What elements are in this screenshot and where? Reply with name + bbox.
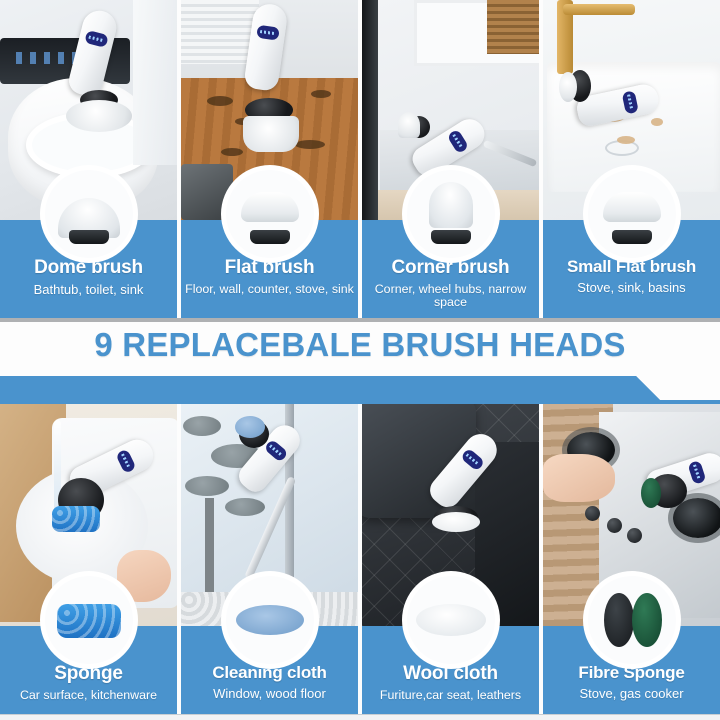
inset-dome-brush-head <box>45 170 133 258</box>
stove-knob <box>585 506 600 521</box>
dirt-spot <box>207 96 233 106</box>
stove-knob <box>627 528 642 543</box>
wand-led-indicator <box>447 129 470 155</box>
inset-small-flat-brush-head <box>588 170 676 258</box>
brush-title: Fibre Sponge <box>547 664 716 683</box>
inset-fibre-sponge-head <box>588 576 676 664</box>
inset-sponge-head <box>45 576 133 664</box>
blue-honeycomb-sponge-icon <box>57 604 121 638</box>
bottom-frame-line <box>0 714 720 720</box>
brush-card-small-flat-brush[interactable]: Small Flat brush Stove, sink, basins <box>543 0 720 318</box>
corner-brush-head-icon <box>429 182 473 228</box>
small-flat-brush-head-icon <box>603 192 661 222</box>
brush-head-base-icon <box>69 230 109 244</box>
fibre-pad-attachment <box>641 478 661 508</box>
brush-title: Flat brush <box>185 258 354 279</box>
wand-led-indicator <box>264 439 289 463</box>
brush-uses: Bathtub, toilet, sink <box>4 283 173 297</box>
brush-card-sponge[interactable]: Sponge Car surface, kitchenware <box>0 402 177 718</box>
wool-cloth-attachment <box>432 512 480 532</box>
green-scouring-pad-icon <box>632 593 662 647</box>
tree-trunk <box>205 498 214 594</box>
debris-spot <box>651 118 663 126</box>
dome-bristles <box>66 100 132 132</box>
inset-corner-brush-head <box>407 170 495 258</box>
product-infographic: Dome brush Bathtub, toilet, sink <box>0 0 720 720</box>
shower-curtain <box>133 0 177 165</box>
brush-card-corner-brush[interactable]: Corner brush Corner, wheel hubs, narrow … <box>362 0 539 318</box>
brush-uses: Window, wood floor <box>185 687 354 701</box>
hand <box>543 454 615 502</box>
dirt-spot <box>295 140 325 149</box>
brush-uses: Stove, gas cooker <box>547 687 716 701</box>
sponge-attachment <box>52 506 100 532</box>
dirt-spot <box>221 148 243 156</box>
brush-card-cleaning-cloth[interactable]: Cleaning cloth Window, wood floor <box>181 402 358 718</box>
brush-title: Sponge <box>4 664 173 685</box>
white-wool-cloth-icon <box>416 604 486 636</box>
brush-row-bottom: Sponge Car surface, kitchenware <box>0 402 720 718</box>
tree-canopy <box>185 476 229 496</box>
flat-bristles <box>243 116 299 152</box>
brush-uses: Car surface, kitchenware <box>4 689 173 702</box>
blue-microfiber-cloth-icon <box>236 605 304 635</box>
brush-title: Corner brush <box>366 258 535 279</box>
brush-uses: Furiture,car seat, leathers <box>366 689 535 702</box>
faucet-spout <box>563 4 635 15</box>
tree-canopy <box>183 416 221 436</box>
brush-card-fibre-sponge[interactable]: Fibre Sponge Stove, gas cooker <box>543 402 720 718</box>
debris-spot <box>617 136 635 144</box>
stove-knob <box>607 518 622 533</box>
inset-wool-cloth-head <box>407 576 495 664</box>
brush-card-wool-cloth[interactable]: Wool cloth Furiture,car seat, leathers <box>362 402 539 718</box>
wand-led-indicator <box>115 448 136 473</box>
brush-uses: Stove, sink, basins <box>547 281 716 295</box>
inset-flat-brush-head <box>226 170 314 258</box>
brush-row-top: Dome brush Bathtub, toilet, sink <box>0 0 720 318</box>
brush-uses: Corner, wheel hubs, narrow space <box>366 283 535 310</box>
blue-banner-decoration <box>0 374 720 404</box>
brush-title: Small Flat brush <box>547 258 716 277</box>
inset-cleaning-cloth-head <box>226 576 314 664</box>
brush-head-base-icon <box>250 230 290 244</box>
brush-card-dome-brush[interactable]: Dome brush Bathtub, toilet, sink <box>0 0 177 318</box>
brush-head-base-icon <box>431 230 471 244</box>
wooden-blind <box>487 0 539 54</box>
dirt-spot <box>311 90 331 98</box>
wand-led-indicator <box>256 25 280 41</box>
page-title: 9 REPLACEBALE BRUSH HEADS <box>0 326 720 364</box>
corner-bristles <box>398 112 420 138</box>
brush-head-base-icon <box>612 230 652 244</box>
wand-led-indicator <box>460 448 485 472</box>
flat-brush-head-icon <box>241 192 299 222</box>
brush-card-flat-brush[interactable]: Flat brush Floor, wall, counter, stove, … <box>181 0 358 318</box>
row-divider <box>0 318 720 322</box>
wand-led-indicator <box>622 90 639 114</box>
small-flat-bristles <box>559 72 577 102</box>
brush-title: Wool cloth <box>366 664 535 685</box>
door-frame <box>362 0 378 220</box>
brush-title: Dome brush <box>4 258 173 279</box>
cloth-attachment <box>235 416 265 438</box>
brush-title: Cleaning cloth <box>185 664 354 683</box>
wand-led-indicator <box>84 30 108 48</box>
brush-uses: Floor, wall, counter, stove, sink <box>185 283 354 296</box>
tree-canopy <box>225 498 265 516</box>
wand-led-indicator <box>687 460 706 485</box>
fibre-scouring-pads-icon <box>604 593 634 647</box>
